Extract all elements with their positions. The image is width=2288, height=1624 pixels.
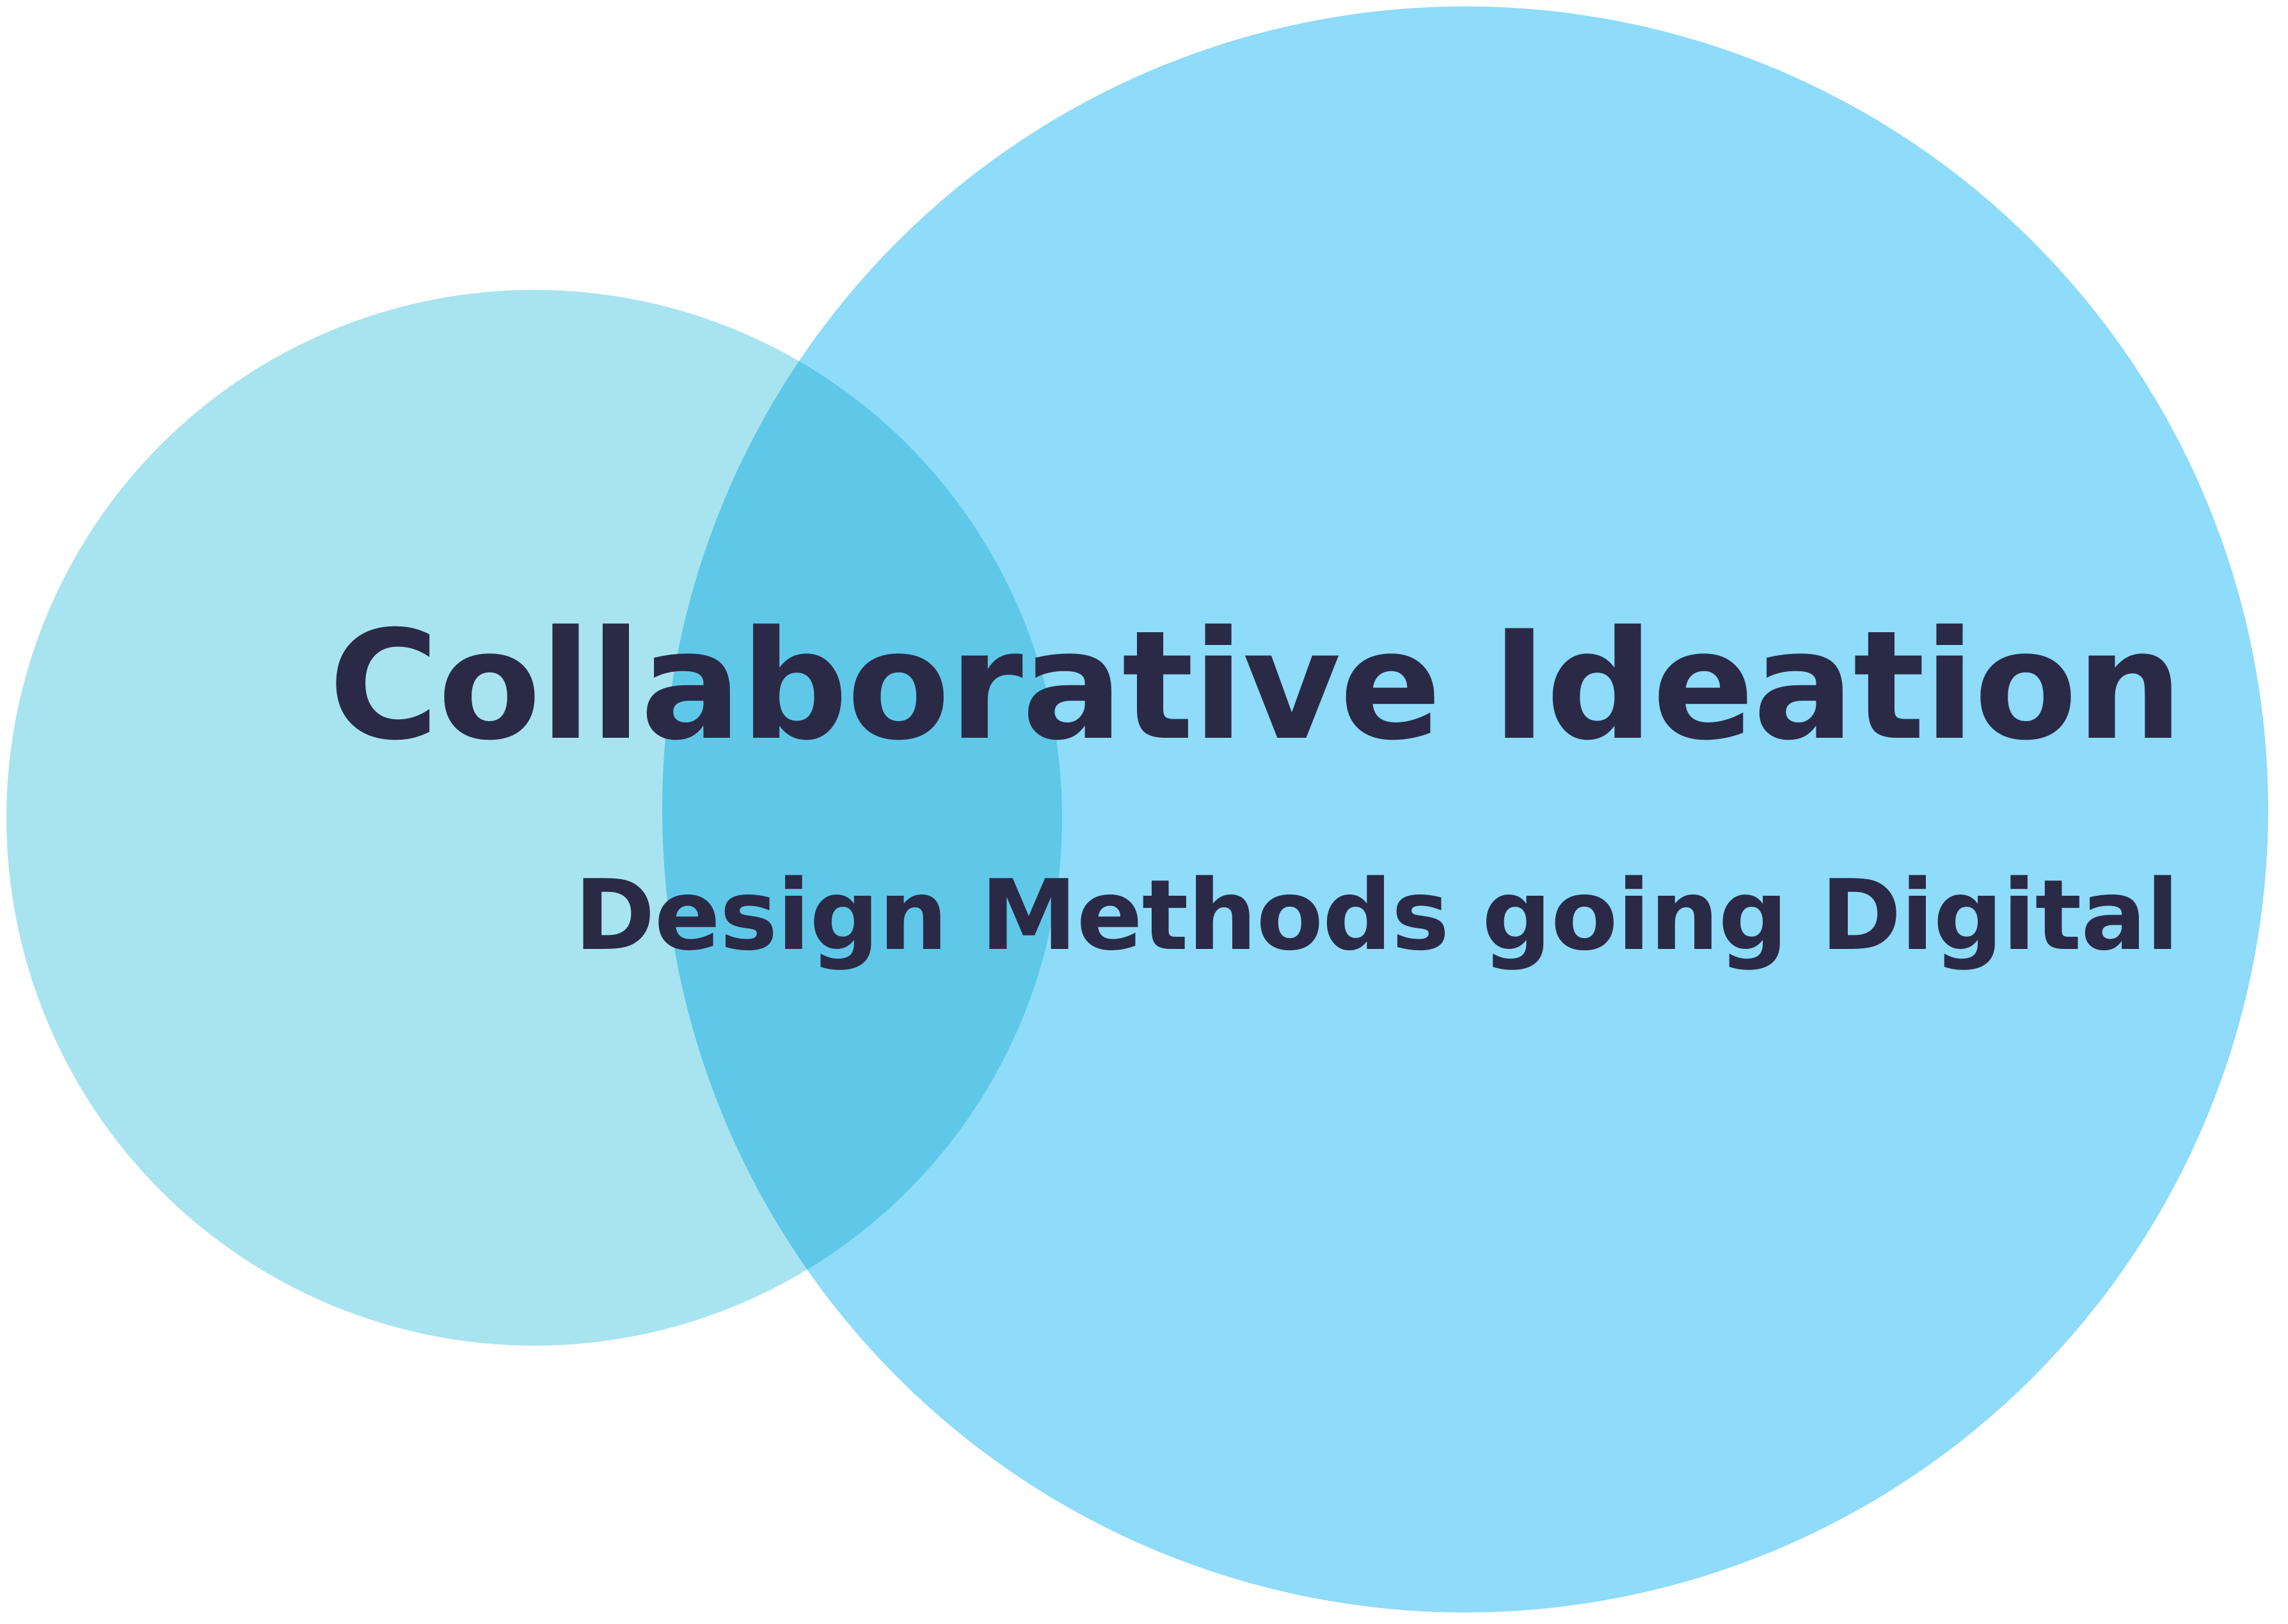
venn-diagram bbox=[0, 0, 2288, 1624]
title-graphic-canvas: Collaborative Ideation Design Methods go… bbox=[0, 0, 2288, 1624]
